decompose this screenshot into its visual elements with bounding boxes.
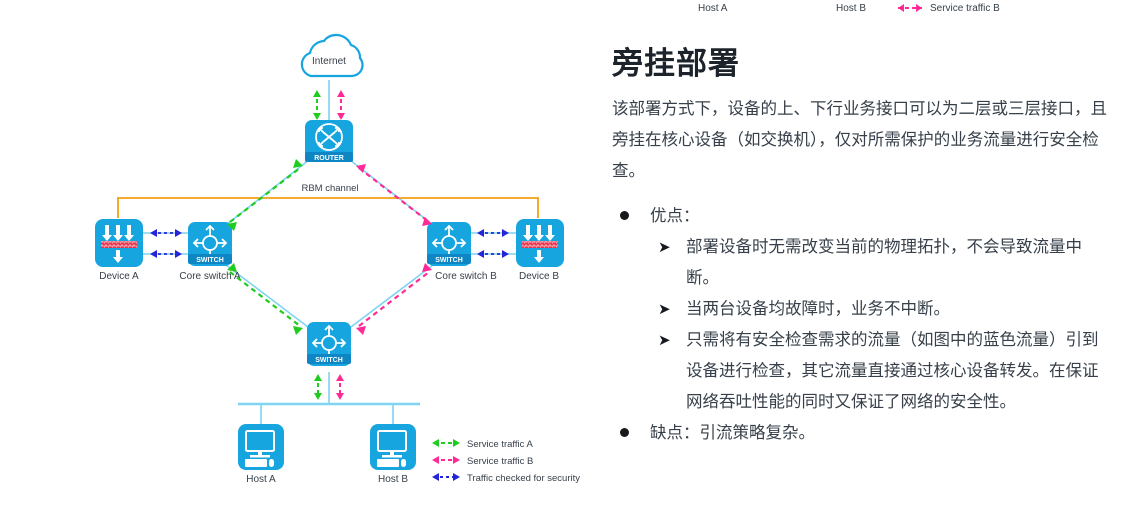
core-switch-b-badge: SWITCH bbox=[435, 257, 463, 264]
node-core-switch-b: SWITCH Core switch B bbox=[427, 222, 497, 282]
router-badge: ROUTER bbox=[314, 155, 344, 162]
bullet-dot-icon bbox=[620, 211, 629, 220]
sub-bullet-item: ➤ 部署设备时无需改变当前的物理拓扑，不会导致流量中断。 bbox=[650, 232, 1112, 294]
sub-bullet-item: ➤ 当两台设备均故障时，业务不中断。 bbox=[650, 294, 1112, 325]
traffic-checked-device-b bbox=[477, 229, 509, 258]
bullet-advantages-label: 优点： bbox=[650, 201, 1112, 232]
host-b-label: Host B bbox=[378, 474, 408, 485]
legend-label-traffic-checked-security: Traffic checked for security bbox=[467, 473, 580, 484]
page-title: 旁挂部署 bbox=[612, 46, 1112, 82]
rbm-channel-label: RBM channel bbox=[301, 183, 358, 194]
documentation-content: 旁挂部署 该部署方式下，设备的上、下行业务接口可以为二层或三层接口，且旁挂在核心… bbox=[612, 46, 1112, 449]
device-b-label: Device B bbox=[519, 271, 559, 282]
node-device-a: Device A bbox=[95, 219, 143, 282]
top-legend-traffic-b-label: Service traffic B bbox=[930, 3, 1000, 14]
traffic-checked-device-a bbox=[150, 229, 182, 258]
top-partial-legend: Host A Host B Service traffic B bbox=[650, 0, 1050, 16]
arrow-bullet-icon: ➤ bbox=[658, 325, 671, 356]
legend-label-service-traffic-b: Service traffic B bbox=[467, 456, 533, 467]
node-device-b: Device B bbox=[516, 219, 564, 282]
page-root: Host A Host B Service traffic B bbox=[0, 0, 1125, 514]
sub-bullet-item: ➤ 只需将有安全检查需求的流量（如图中的蓝色流量）引到设备进行检查，其它流量直接… bbox=[650, 325, 1112, 418]
legend-item-traffic-checked-security: Traffic checked for security bbox=[432, 473, 580, 484]
intro-paragraph: 该部署方式下，设备的上、下行业务接口可以为二层或三层接口，且旁挂在核心设备（如交… bbox=[612, 94, 1112, 187]
arrow-bullet-icon: ➤ bbox=[658, 294, 671, 325]
legend-item-service-traffic-a: Service traffic A bbox=[432, 439, 533, 450]
node-host-b: Host B bbox=[370, 424, 416, 485]
sub-bullet-text: 部署设备时无需改变当前的物理拓扑，不会导致流量中断。 bbox=[686, 232, 1112, 294]
network-topology-diagram: RBM channel Internet ROUTER bbox=[0, 0, 610, 514]
top-legend-traffic-b-icon bbox=[898, 4, 922, 12]
host-a-label: Host A bbox=[246, 474, 276, 485]
sub-bullet-list-advantages: ➤ 部署设备时无需改变当前的物理拓扑，不会导致流量中断。 ➤ 当两台设备均故障时… bbox=[650, 232, 1112, 418]
legend-label-service-traffic-a: Service traffic A bbox=[467, 439, 533, 450]
cloud-label: Internet bbox=[312, 56, 346, 67]
node-access-switch: SWITCH bbox=[307, 322, 351, 366]
node-router: ROUTER bbox=[305, 120, 353, 162]
bullet-list: 优点： ➤ 部署设备时无需改变当前的物理拓扑，不会导致流量中断。 ➤ 当两台设备… bbox=[612, 201, 1112, 449]
rbm-channel: RBM channel bbox=[118, 180, 538, 218]
access-switch-badge: SWITCH bbox=[315, 357, 343, 364]
bullet-dot-icon bbox=[620, 428, 629, 437]
core-switch-b-label: Core switch B bbox=[435, 271, 497, 282]
node-host-a: Host A bbox=[238, 424, 284, 485]
bullet-disadvantages: 缺点：引流策略复杂。 bbox=[612, 418, 1112, 449]
bullet-disadvantages-label: 缺点：引流策略复杂。 bbox=[650, 418, 1112, 449]
node-internet: Internet bbox=[302, 35, 363, 76]
arrow-bullet-icon: ➤ bbox=[658, 232, 671, 263]
core-switch-a-badge: SWITCH bbox=[196, 257, 224, 264]
top-legend-host-a-label: Host A bbox=[698, 3, 728, 14]
diagram-legend: Service traffic A Service traffic B Traf… bbox=[432, 439, 580, 484]
bullet-advantages: 优点： ➤ 部署设备时无需改变当前的物理拓扑，不会导致流量中断。 ➤ 当两台设备… bbox=[612, 201, 1112, 418]
device-a-label: Device A bbox=[99, 271, 139, 282]
sub-bullet-text: 只需将有安全检查需求的流量（如图中的蓝色流量）引到设备进行检查，其它流量直接通过… bbox=[686, 325, 1112, 418]
top-legend-host-b-label: Host B bbox=[836, 3, 866, 14]
sub-bullet-text: 当两台设备均故障时，业务不中断。 bbox=[686, 294, 1112, 325]
legend-item-service-traffic-b: Service traffic B bbox=[432, 456, 533, 467]
